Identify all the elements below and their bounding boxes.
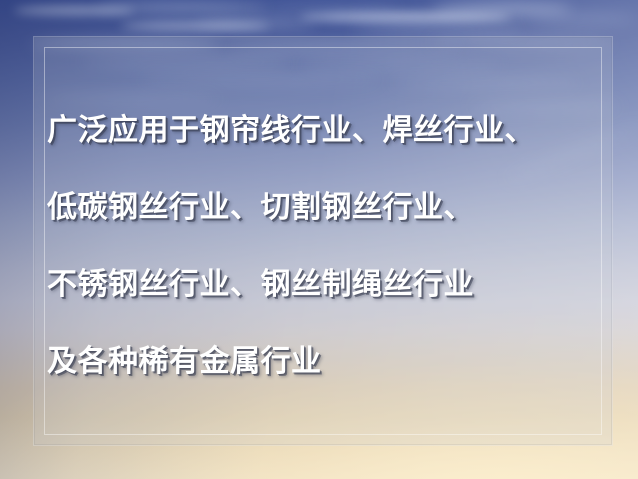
body-text-line-1: 广泛应用于钢帘线行业、焊丝行业、 <box>47 92 607 169</box>
body-text-line-2: 低碳钢丝行业、切割钢丝行业、 <box>47 169 607 246</box>
presentation-slide: 广泛应用于钢帘线行业、焊丝行业、 低碳钢丝行业、切割钢丝行业、 不锈钢丝行业、钢… <box>0 0 638 479</box>
body-text-line-4: 及各种稀有金属行业 <box>47 323 607 400</box>
body-text-block: 广泛应用于钢帘线行业、焊丝行业、 低碳钢丝行业、切割钢丝行业、 不锈钢丝行业、钢… <box>47 92 607 400</box>
body-text-line-3: 不锈钢丝行业、钢丝制绳丝行业 <box>47 246 607 323</box>
